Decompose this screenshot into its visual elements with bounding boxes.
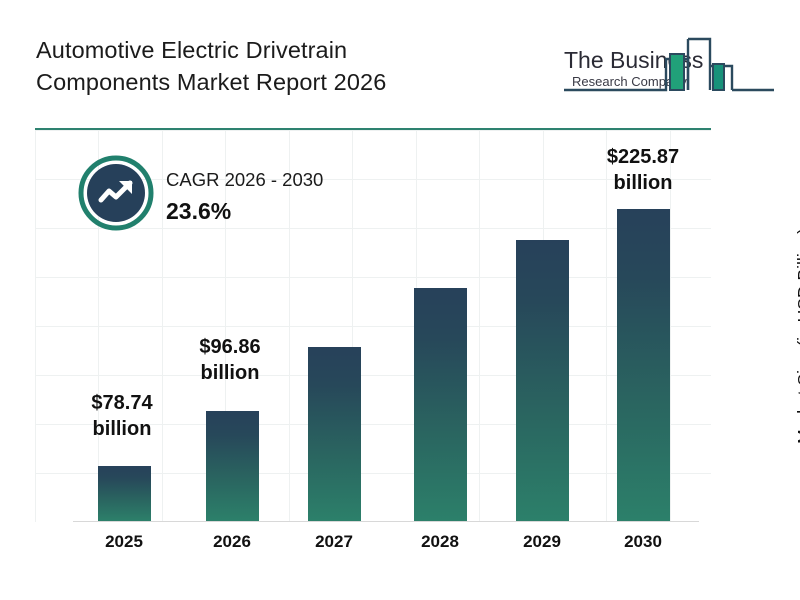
value-label-2025-amount: $78.74: [62, 390, 182, 416]
x-tick-2030: 2030: [598, 532, 688, 552]
value-label-2030-amount: $225.87: [583, 144, 703, 170]
value-label-2030: $225.87 billion: [583, 144, 703, 196]
bar-2029[interactable]: [516, 240, 569, 521]
chart-page: Automotive Electric Drivetrain Component…: [0, 0, 800, 600]
bar-2026[interactable]: [206, 411, 259, 521]
page-title-line1: Automotive Electric Drivetrain: [36, 34, 506, 66]
x-tick-2025: 2025: [79, 532, 169, 552]
value-label-2025: $78.74 billion: [62, 390, 182, 442]
x-axis-baseline: [73, 521, 699, 522]
page-title-line2: Components Market Report 2026: [36, 66, 506, 98]
value-label-2025-unit: billion: [62, 416, 182, 442]
value-label-2026-amount: $96.86: [170, 334, 290, 360]
company-logo: The Business Research Company: [560, 28, 778, 100]
x-tick-2026: 2026: [187, 532, 277, 552]
x-axis-labels: 2025 2026 2027 2028 2029 2030: [35, 532, 711, 560]
x-tick-2028: 2028: [395, 532, 485, 552]
bar-2030[interactable]: [617, 209, 670, 521]
y-axis-title: Market Size (in USD Billion): [794, 228, 800, 444]
bar-2025[interactable]: [98, 466, 151, 521]
x-tick-2029: 2029: [497, 532, 587, 552]
bar-2027[interactable]: [308, 347, 361, 521]
value-label-2030-unit: billion: [583, 170, 703, 196]
page-title: Automotive Electric Drivetrain Component…: [36, 34, 506, 98]
x-tick-2027: 2027: [289, 532, 379, 552]
value-label-2026-unit: billion: [170, 360, 290, 386]
value-label-2026: $96.86 billion: [170, 334, 290, 386]
bar-2028[interactable]: [414, 288, 467, 521]
